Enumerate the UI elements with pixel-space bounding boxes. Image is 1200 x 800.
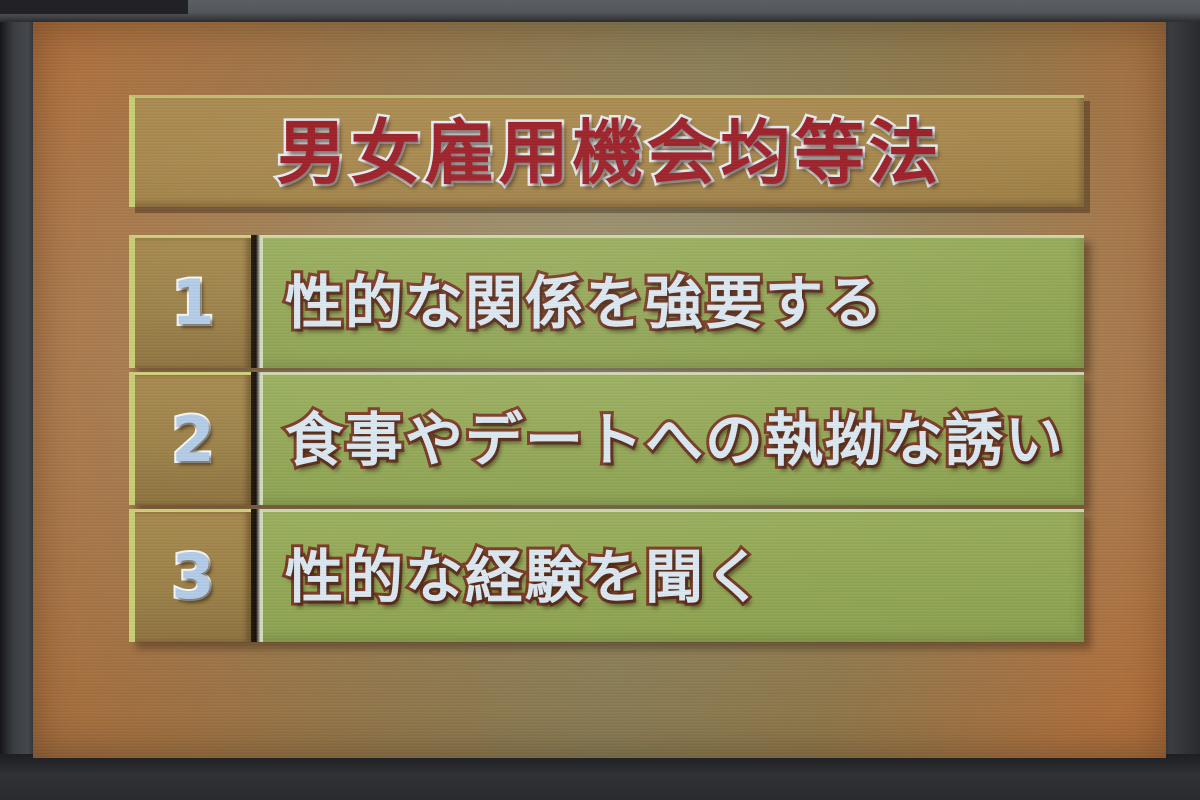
list-item-divider <box>251 372 260 505</box>
list-item-number-box: 2 <box>129 372 251 505</box>
bezel-bottom-edge <box>0 754 1200 800</box>
list-item-number: 1 <box>171 272 214 334</box>
caption-board: 男女雇用機会均等法 1 性的な関係を強要する 2 <box>33 22 1166 758</box>
tv-screen: 男女雇用機会均等法 1 性的な関係を強要する 2 <box>33 22 1166 758</box>
page-title: 男女雇用機会均等法 <box>277 118 943 188</box>
list-item-text-box: 性的な関係を強要する <box>260 235 1084 368</box>
list-item-text-box: 食事やデートへの執拗な誘い <box>260 372 1084 505</box>
list-item-number: 3 <box>171 546 214 608</box>
list-item-number: 2 <box>171 409 214 471</box>
list-item-number-box: 3 <box>129 509 251 642</box>
tv-frame: 男女雇用機会均等法 1 性的な関係を強要する 2 <box>0 0 1200 800</box>
item-list: 1 性的な関係を強要する 2 食事やデートへの執拗な誘い <box>129 235 1084 646</box>
list-item-text-box: 性的な経験を聞く <box>260 509 1084 642</box>
list-item-divider <box>251 235 260 368</box>
list-item: 1 性的な関係を強要する <box>129 235 1084 368</box>
list-item-number-box: 1 <box>129 235 251 368</box>
bezel-top-left-notch <box>0 0 188 14</box>
list-item-divider <box>251 509 260 642</box>
title-plate: 男女雇用機会均等法 <box>129 95 1084 207</box>
list-item: 2 食事やデートへの執拗な誘い <box>129 372 1084 505</box>
list-item: 3 性的な経験を聞く <box>129 509 1084 642</box>
list-item-text: 食事やデートへの執拗な誘い <box>285 410 1065 471</box>
list-item-text: 性的な関係を強要する <box>285 273 885 334</box>
list-item-text: 性的な経験を聞く <box>285 547 765 608</box>
